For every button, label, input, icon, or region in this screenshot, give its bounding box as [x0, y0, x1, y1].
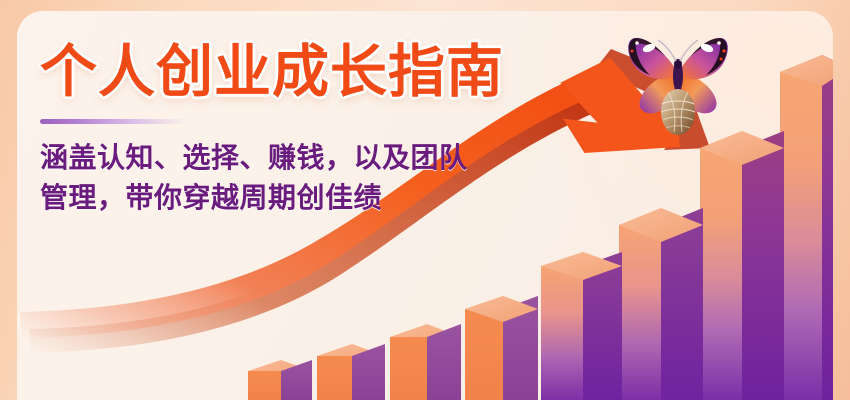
bar-column-5-front-overlay — [541, 252, 622, 400]
bar-column-1 — [248, 360, 312, 400]
bar-column-3 — [390, 324, 461, 400]
bar-column-6-front-overlay — [619, 208, 703, 400]
subtitle-line-1: 涵盖认知、选择、赚钱，以及团队 — [40, 138, 640, 178]
cocoon-icon — [661, 89, 695, 135]
bar-column-2 — [317, 344, 385, 400]
bar-column-4-front-overlay — [465, 296, 538, 400]
gradient-divider — [40, 119, 186, 124]
banner-image: 个人创业成长指南 涵盖认知、选择、赚钱，以及团队 管理，带你穿越周期创佳绩 — [0, 0, 850, 400]
butterfly-icon — [624, 24, 732, 136]
page-subtitle: 涵盖认知、选择、赚钱，以及团队 管理，带你穿越周期创佳绩 — [40, 138, 640, 219]
bar-column-8-front-overlay — [780, 55, 850, 400]
subtitle-line-2: 管理，带你穿越周期创佳绩 — [40, 178, 640, 218]
page-title: 个人创业成长指南 — [40, 44, 640, 101]
headline-block: 个人创业成长指南 涵盖认知、选择、赚钱，以及团队 管理，带你穿越周期创佳绩 — [40, 44, 640, 219]
bar-column-7-front-overlay — [700, 131, 784, 400]
